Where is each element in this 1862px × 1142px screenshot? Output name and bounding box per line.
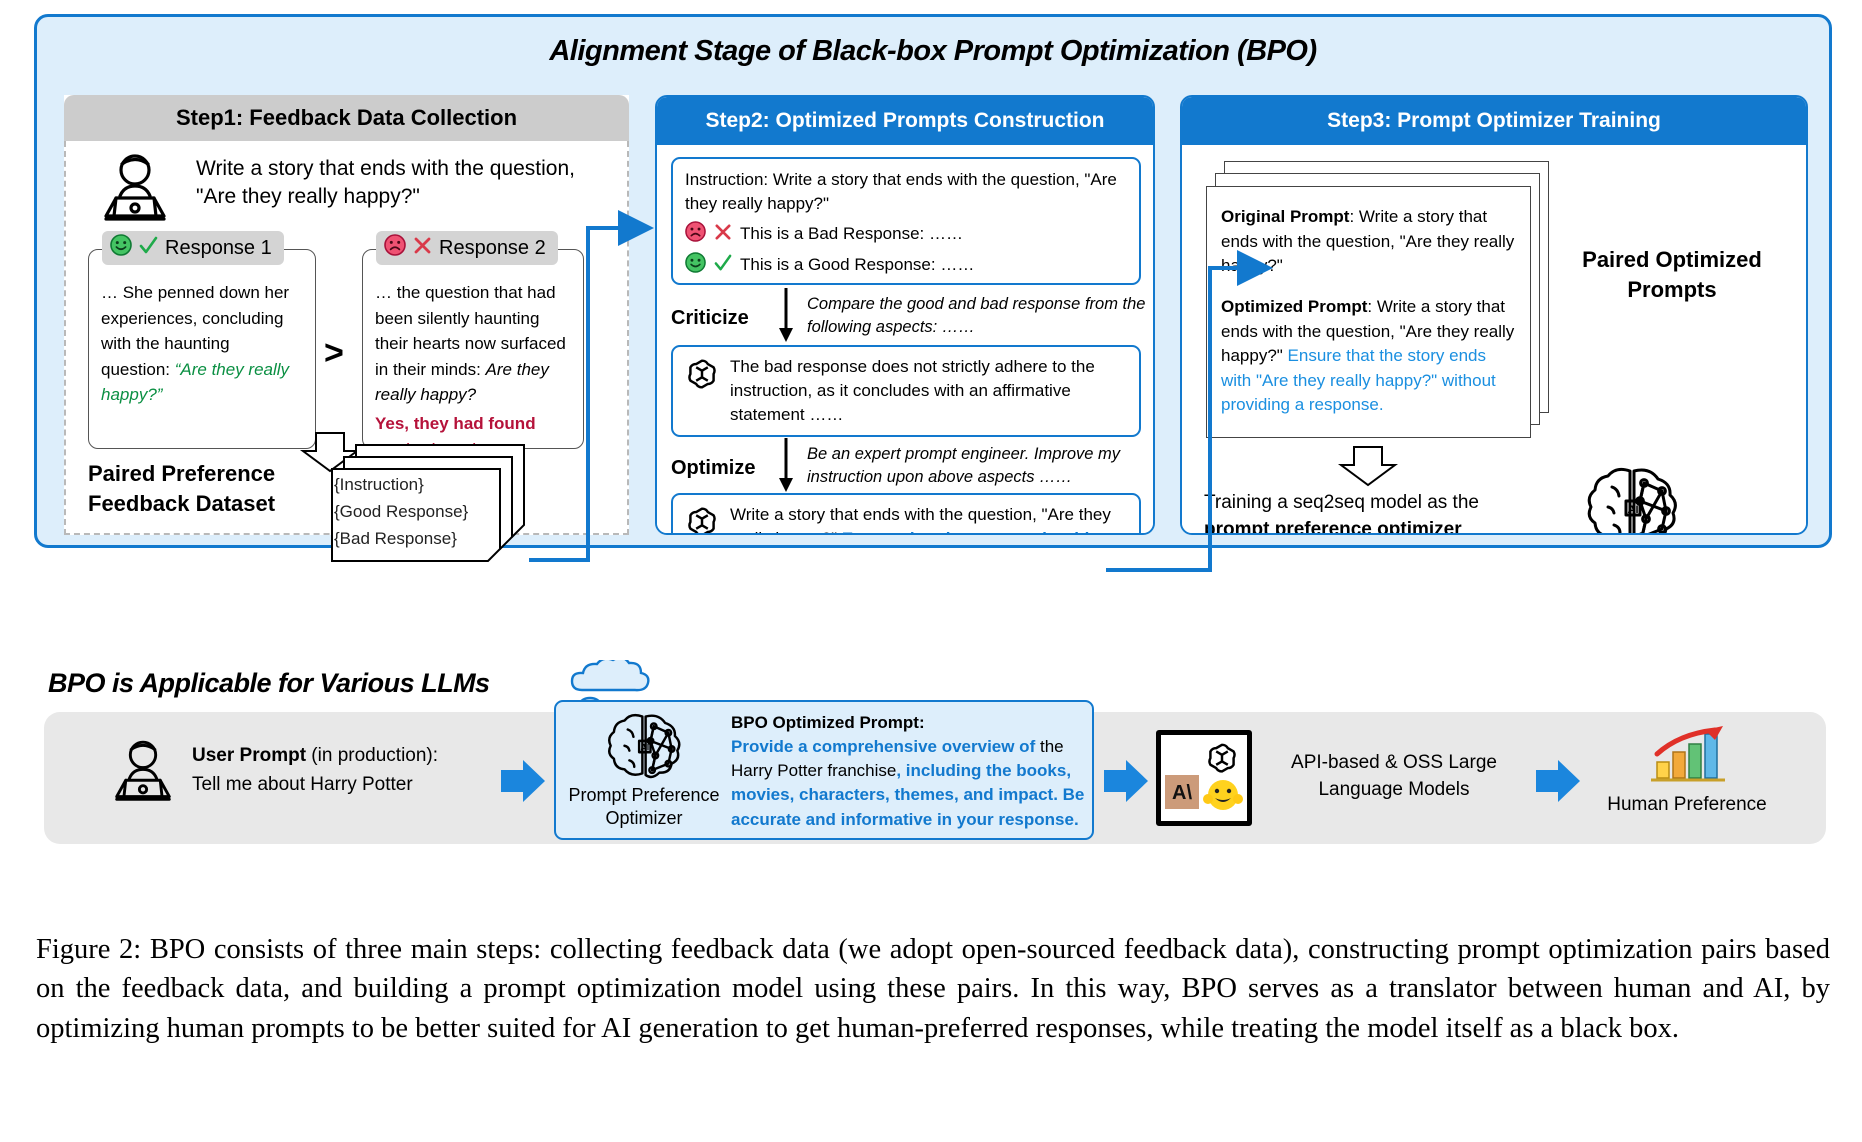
step2-instruction-text: Instruction: Write a story that ends wit… <box>685 168 1127 216</box>
llm-logos-box: A\ <box>1156 730 1252 826</box>
step2-optimized-output-box: Write a story that ends with the questio… <box>671 493 1141 535</box>
step1-card: Step1: Feedback Data Collection Write a … <box>64 95 629 535</box>
right-arrow-icon <box>499 758 547 809</box>
openai-logo-icon <box>683 503 721 535</box>
openai-logo-icon <box>683 355 721 427</box>
anthropic-logo-icon: A\ <box>1172 782 1192 804</box>
right-arrow-icon <box>1534 758 1582 809</box>
training-label: Training a seq2seq model as the prompt p… <box>1204 490 1549 535</box>
ai-brain-icon: AI <box>602 710 686 793</box>
cross-mark-red-icon <box>713 222 733 247</box>
doc-line-instruction: {Instruction} <box>334 471 524 498</box>
step2-card: Step2: Optimized Prompts Construction In… <box>655 95 1155 535</box>
response2-label: Response 2 <box>439 237 546 260</box>
smiling-face-green-icon <box>110 234 132 262</box>
rising-bar-chart-icon <box>1639 773 1735 790</box>
step3-card: Step3: Prompt Optimizer Training Origina… <box>1180 95 1808 535</box>
optimize-note: Be an expert prompt engineer. Improve my… <box>807 443 1152 489</box>
step2-header: Step2: Optimized Prompts Construction <box>657 97 1153 145</box>
step2-body: Instruction: Write a story that ends wit… <box>657 145 1153 535</box>
user-prompt-label: User Prompt <box>192 745 306 766</box>
doc-line-good: {Good Response} <box>334 498 524 525</box>
paired-optimized-prompts-label: Paired Optimized Prompts <box>1577 245 1767 304</box>
response2-box: … the question that had been silently ha… <box>362 249 584 449</box>
criticize-note: Compare the good and bad response from t… <box>807 293 1147 339</box>
prompt-preference-optimizer-box: AI Prompt Preference Optimizer BPO Optim… <box>554 700 1094 840</box>
preference-comparator: > <box>324 336 344 370</box>
step2-good-response-text: This is a Good Response: …… <box>740 255 974 275</box>
step2-criticize-output-box: The bad response does not strictly adher… <box>671 345 1141 437</box>
prompt-card-front: Original Prompt: Write a story that ends… <box>1206 186 1531 438</box>
bpo-prompt-blue1: Provide a comprehensive overview of <box>731 737 1040 756</box>
prompt-pair-card-stack: Original Prompt: Write a story that ends… <box>1206 161 1551 461</box>
step2-instruction-box: Instruction: Write a story that ends wit… <box>671 157 1141 285</box>
training-plain: Training a seq2seq model as the <box>1204 492 1479 513</box>
llm-label: API-based & OSS Large Language Models <box>1269 750 1519 803</box>
user-at-laptop-icon <box>104 738 182 813</box>
check-mark-green-icon <box>138 235 159 262</box>
bpo-optimized-prompt: BPO Optimized Prompt: Provide a comprehe… <box>731 711 1086 832</box>
dataset-doc-lines: {Instruction} {Good Response} {Bad Respo… <box>334 471 524 553</box>
response1-label: Response 1 <box>165 237 272 260</box>
bpo-applicable-title: BPO is Applicable for Various LLMs <box>48 668 490 699</box>
original-prompt-line: Original Prompt: Write a story that ends… <box>1221 205 1516 279</box>
response2-badge: Response 2 <box>376 231 558 265</box>
right-arrow-icon <box>1102 758 1150 809</box>
step1-body: Write a story that ends with the questio… <box>64 141 629 535</box>
criticize-arrow-icon <box>776 288 796 349</box>
user-at-laptop-icon <box>92 153 178 232</box>
down-arrow-icon <box>1337 445 1399 492</box>
training-bold: prompt preference optimizer <box>1204 519 1462 535</box>
optimizer-caption: Prompt Preference Optimizer <box>564 784 724 831</box>
step3-header: Step3: Prompt Optimizer Training <box>1182 97 1806 145</box>
step1-header: Step1: Feedback Data Collection <box>64 95 629 141</box>
step2-bad-response-line: This is a Bad Response: …… <box>685 221 1127 247</box>
huggingface-logo-icon <box>1203 780 1243 810</box>
user-prompt-text: Tell me about Harry Potter <box>192 771 492 800</box>
paired-preference-dataset-label: Paired Preference Feedback Dataset <box>88 459 303 518</box>
optimized-prompt-label: Optimized Prompt <box>1221 297 1367 316</box>
svg-text:AI: AI <box>640 743 649 753</box>
response1-badge: Response 1 <box>102 231 284 265</box>
openai-logo-icon <box>1210 745 1235 772</box>
alignment-stage-title: Alignment Stage of Black-box Prompt Opti… <box>37 35 1829 68</box>
original-prompt-label: Original Prompt <box>1221 207 1349 226</box>
ai-brain-icon: AI <box>1582 463 1682 535</box>
frowning-face-red-icon <box>685 221 706 247</box>
step2-bad-response-text: This is a Bad Response: …… <box>740 224 963 244</box>
smiling-face-green-icon <box>685 252 706 278</box>
bpo-prompt-title: BPO Optimized Prompt: <box>731 711 1086 735</box>
check-mark-green-icon <box>713 253 733 278</box>
doc-line-bad: {Bad Response} <box>334 525 524 552</box>
frowning-face-red-icon <box>384 234 406 262</box>
optimize-arrow-icon <box>776 438 796 499</box>
step3-body: Original Prompt: Write a story that ends… <box>1182 145 1806 535</box>
response1-box: … She penned down her experiences, concl… <box>88 249 316 449</box>
cross-mark-red-icon <box>412 235 433 262</box>
human-preference-group: Human Preference <box>1592 724 1782 818</box>
human-preference-label: Human Preference <box>1592 793 1782 818</box>
alignment-stage-panel: Alignment Stage of Black-box Prompt Opti… <box>34 14 1832 548</box>
production-user-prompt: User Prompt (in production): Tell me abo… <box>192 742 492 799</box>
criticize-label: Criticize <box>671 307 749 330</box>
step2-criticize-output-text: The bad response does not strictly adher… <box>730 355 1129 427</box>
figure-caption: Figure 2: BPO consists of three main ste… <box>36 930 1830 1048</box>
step2-good-response-line: This is a Good Response: …… <box>685 252 1127 278</box>
user-prompt-suffix: (in production): <box>306 745 438 766</box>
bpo-application-panel: User Prompt (in production): Tell me abo… <box>44 712 1826 844</box>
optimized-prompt-line: Optimized Prompt: Write a story that end… <box>1221 295 1516 418</box>
svg-text:AI: AI <box>1628 504 1639 516</box>
step1-user-prompt: Write a story that ends with the questio… <box>196 155 586 210</box>
optimize-label: Optimize <box>671 457 755 480</box>
